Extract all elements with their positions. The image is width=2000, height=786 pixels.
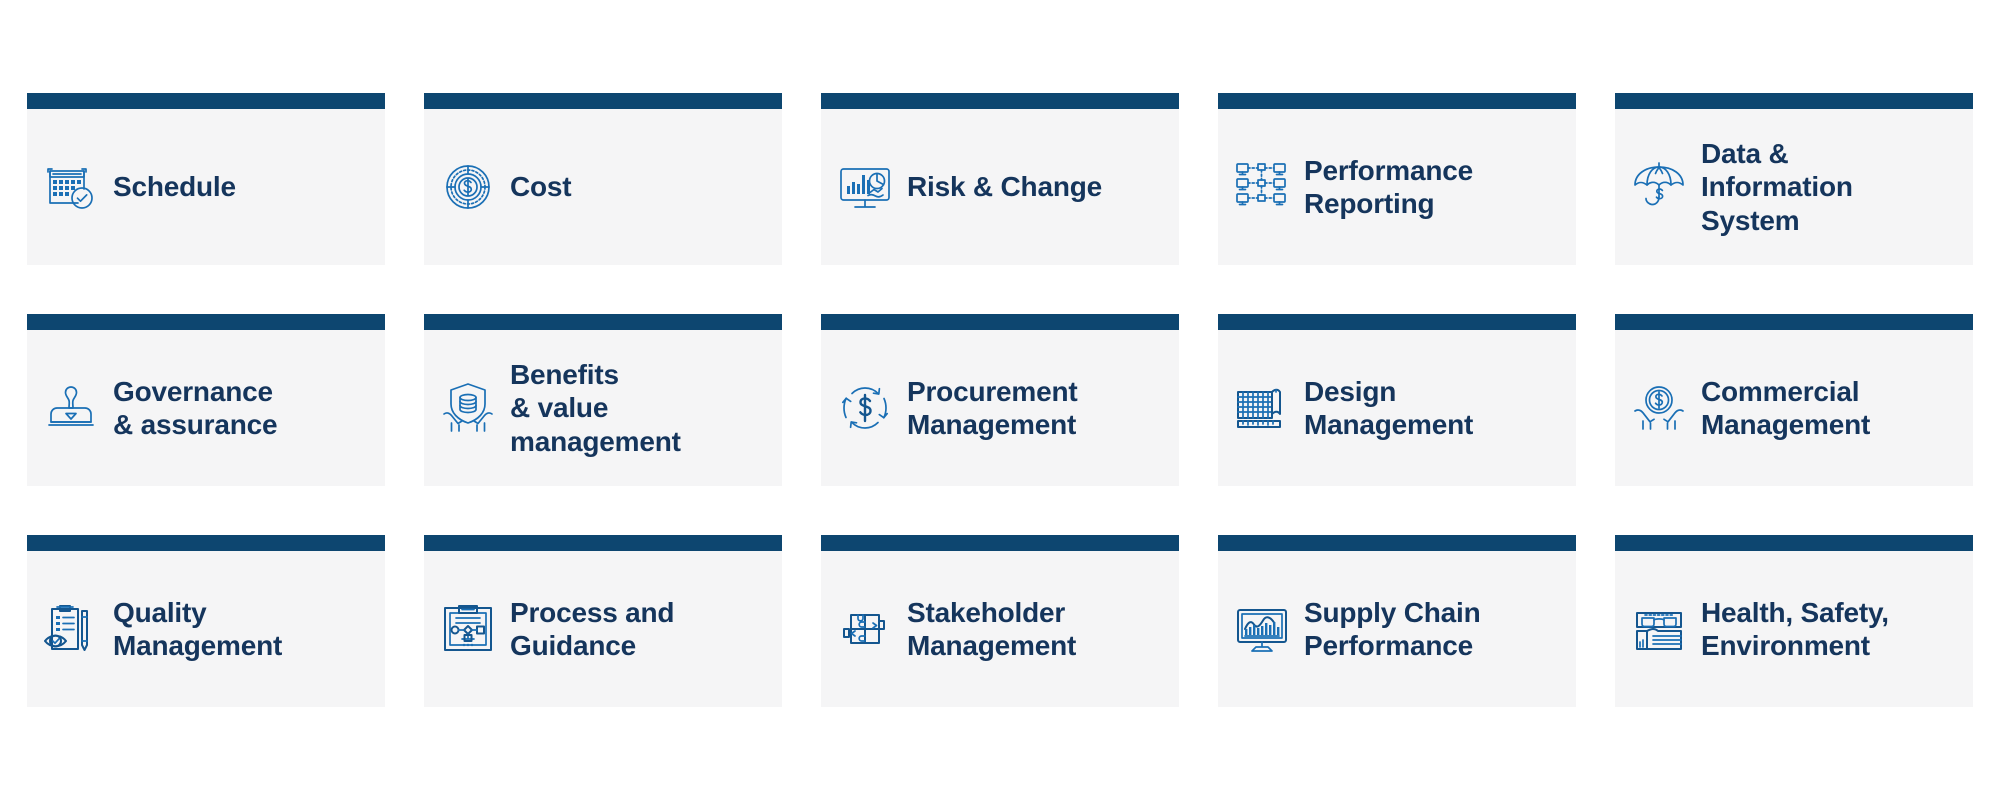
card-top-bar (821, 93, 1179, 109)
card-label: Quality Management (113, 596, 282, 662)
card-body: Governance & assurance (27, 330, 385, 486)
card-cost[interactable]: Cost (424, 93, 782, 265)
clipboard-flowchart-icon (440, 601, 496, 657)
card-label: Supply Chain Performance (1304, 596, 1481, 662)
card-top-bar (424, 535, 782, 551)
clipboard-eye-pencil-icon (43, 601, 99, 657)
rubber-stamp-icon (43, 380, 99, 436)
card-top-bar (27, 314, 385, 330)
card-performance-reporting[interactable]: Performance Reporting (1218, 93, 1576, 265)
card-top-bar (821, 535, 1179, 551)
card-label: Process and Guidance (510, 596, 674, 662)
card-design-management[interactable]: Design Management (1218, 314, 1576, 486)
card-top-bar (1218, 535, 1576, 551)
card-supply-chain-performance[interactable]: Supply Chain Performance (1218, 535, 1576, 707)
card-body: Performance Reporting (1218, 109, 1576, 265)
card-data-information-system[interactable]: Data & Information System (1615, 93, 1973, 265)
card-risk-change[interactable]: Risk & Change (821, 93, 1179, 265)
card-body: Procurement Management (821, 330, 1179, 486)
card-procurement-management[interactable]: Procurement Management (821, 314, 1179, 486)
card-body: Health, Safety, Environment (1615, 551, 1973, 707)
card-schedule[interactable]: Schedule (27, 93, 385, 265)
card-body: Cost (424, 109, 782, 265)
coin-in-hands-icon (1631, 380, 1687, 436)
card-top-bar (821, 314, 1179, 330)
card-label: Schedule (113, 170, 236, 203)
card-process-guidance[interactable]: Process and Guidance (424, 535, 782, 707)
card-body: Commercial Management (1615, 330, 1973, 486)
card-body: Stakeholder Management (821, 551, 1179, 707)
card-top-bar (1218, 314, 1576, 330)
monitor-bar-chart-icon (1234, 601, 1290, 657)
card-governance-assurance[interactable]: Governance & assurance (27, 314, 385, 486)
card-top-bar (1218, 93, 1576, 109)
card-label: Governance & assurance (113, 375, 277, 441)
card-benefits-value-management[interactable]: Benefits & value management (424, 314, 782, 486)
card-top-bar (1615, 314, 1973, 330)
blueprint-ruler-icon (1234, 380, 1290, 436)
card-body: Design Management (1218, 330, 1576, 486)
card-commercial-management[interactable]: Commercial Management (1615, 314, 1973, 486)
umbrella-dollar-icon (1631, 159, 1687, 215)
card-label: Risk & Change (907, 170, 1102, 203)
card-top-bar (27, 535, 385, 551)
network-monitors-icon (1234, 159, 1290, 215)
card-label: Performance Reporting (1304, 154, 1473, 220)
monitor-analytics-icon (837, 159, 893, 215)
card-label: Design Management (1304, 375, 1473, 441)
safety-goggles-gloves-icon (1631, 601, 1687, 657)
card-label: Procurement Management (907, 375, 1078, 441)
card-top-bar (424, 93, 782, 109)
card-health-safety-environment[interactable]: Health, Safety, Environment (1615, 535, 1973, 707)
coin-dollar-chart-icon (440, 159, 496, 215)
card-label: Stakeholder Management (907, 596, 1076, 662)
puzzle-handshake-icon (837, 601, 893, 657)
card-label: Health, Safety, Environment (1701, 596, 1889, 662)
capability-card-grid: Schedule Cost Risk & Change (27, 93, 1973, 707)
card-body: Process and Guidance (424, 551, 782, 707)
card-label: Benefits & value management (510, 358, 681, 457)
card-top-bar (27, 93, 385, 109)
card-label: Data & Information System (1701, 137, 1853, 236)
card-body: Risk & Change (821, 109, 1179, 265)
shield-coins-hands-icon (440, 380, 496, 436)
card-body: Benefits & value management (424, 330, 782, 486)
card-stakeholder-management[interactable]: Stakeholder Management (821, 535, 1179, 707)
card-label: Cost (510, 170, 571, 203)
card-quality-management[interactable]: Quality Management (27, 535, 385, 707)
card-body: Supply Chain Performance (1218, 551, 1576, 707)
card-body: Data & Information System (1615, 109, 1973, 265)
card-top-bar (424, 314, 782, 330)
card-body: Quality Management (27, 551, 385, 707)
card-label: Commercial Management (1701, 375, 1870, 441)
card-top-bar (1615, 535, 1973, 551)
calendar-check-icon (43, 159, 99, 215)
card-body: Schedule (27, 109, 385, 265)
card-top-bar (1615, 93, 1973, 109)
dollar-cycle-arrows-icon (837, 380, 893, 436)
